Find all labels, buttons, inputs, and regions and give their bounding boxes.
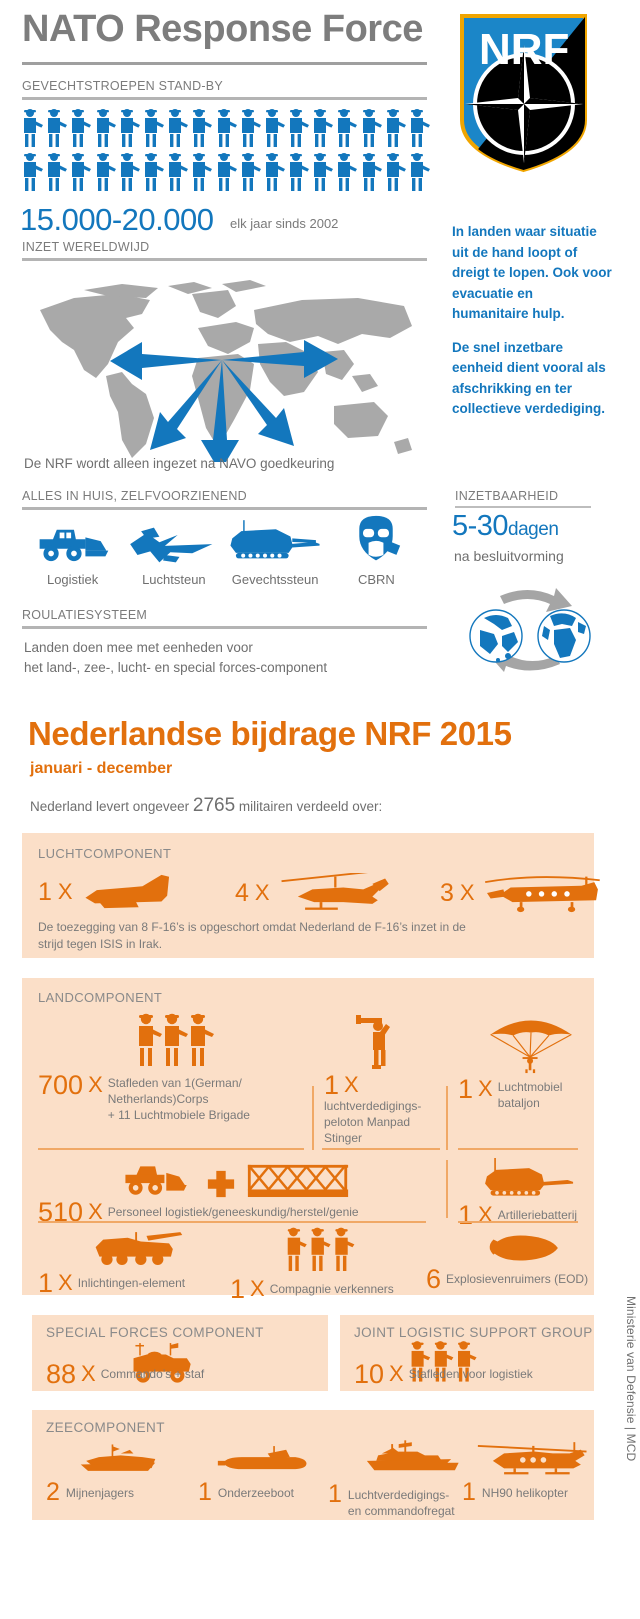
worldwide-caption: De NRF wordt alleen ingezet na NAVO goed…: [24, 456, 334, 471]
land-row3-item: 1 X Compagnie verkenners: [230, 1226, 394, 1303]
sea-item-label-line1: NH90 helikopter: [482, 1486, 568, 1500]
air-footnote-line1: De toezegging van 8 F-16’s is opgeschort…: [38, 919, 578, 936]
sea-item-label-line1: Onderzeeboot: [218, 1486, 294, 1500]
air-item-x: X: [255, 880, 270, 906]
sea-item-count: 1: [198, 1480, 212, 1505]
air-footnote-line2: strijd tegen ISIS in Irak.: [38, 936, 578, 953]
selfsufficient-section: ALLES IN HUIS, ZELFVOORZIENEND: [22, 489, 427, 510]
dutch-lead-suffix: militairen verdeeld over:: [239, 799, 382, 814]
soldier-icon: [93, 152, 117, 192]
land-item-label-line1: luchtverdedigings-: [324, 1099, 421, 1113]
jlsg-panel: JOINT LOGISTIC SUPPORT GROUP 10 X Stafle…: [340, 1315, 594, 1391]
publisher-credit: Ministerie van Defensie | MCD: [624, 1296, 638, 1461]
soldier-icon: [407, 152, 431, 192]
soldier-icon: [141, 152, 165, 192]
soldier-icon: [334, 108, 358, 148]
manpad-soldier-icon: [354, 1012, 442, 1070]
land-item-x: X: [250, 1276, 265, 1302]
air-item-count: 1: [38, 878, 52, 907]
special-forces-count: 88: [46, 1361, 76, 1388]
land-item-label: Personeel logistiek/geneeskundig/herstel…: [108, 1205, 359, 1221]
transport-plane-icon: [79, 873, 185, 911]
soldier-row: [20, 108, 432, 148]
land-row3-item: 6 Explosievenruimers (EOD): [426, 1230, 588, 1293]
deployability-note: na besluitvorming: [454, 548, 564, 564]
air-component-panel: LUCHTCOMPONENT 1 X 4 X: [22, 833, 594, 958]
jlsg-count: 10: [354, 1361, 384, 1388]
soldier-icon: [68, 108, 92, 148]
jlsg-label: Stafleden voor logistiek: [409, 1367, 533, 1383]
sea-component-item: 2 Mijnenjagers: [46, 1440, 168, 1505]
air-component-footnote: De toezegging van 8 F-16’s is opgeschort…: [38, 919, 578, 952]
land-component-panel: LANDCOMPONENT 700 X Stafleden van 1(Germ…: [22, 978, 594, 1295]
soldier-icon: [359, 108, 383, 148]
world-map-graphic: [22, 272, 422, 462]
land-component-header: LANDCOMPONENT: [38, 990, 162, 1005]
land-row3-item: 1 X Inlichtingen-element: [38, 1230, 186, 1297]
standby-section-label: GEVECHTSTROEPEN STAND-BY: [22, 79, 427, 93]
land-row2-item: 1 X Artilleriebatterij: [458, 1158, 588, 1229]
selfsufficient-section-label: ALLES IN HUIS, ZELFVOORZIENEND: [22, 489, 427, 503]
nrf-logo-text: NRF: [479, 25, 569, 74]
soldier-icon: [20, 108, 44, 148]
land-item-count: 1: [230, 1276, 245, 1303]
attack-helicopter-icon: [276, 873, 396, 913]
soldier-icon: [68, 152, 92, 192]
sea-component-item: 1 NH90 helikopter: [462, 1440, 594, 1505]
special-forces-header: SPECIAL FORCES COMPONENT: [46, 1325, 264, 1340]
land-item-count: 700: [38, 1072, 83, 1099]
page-title: NATO Response Force: [22, 8, 423, 51]
air-component-header: LUCHTCOMPONENT: [38, 846, 171, 861]
soldier-icon: [214, 152, 238, 192]
land-item-count: 1: [324, 1072, 339, 1099]
jlsg-x: X: [389, 1361, 404, 1387]
air-item-count: 4: [235, 879, 249, 908]
standby-number: 15.000-20.000: [20, 202, 213, 238]
standby-number-note: elk jaar sinds 2002: [230, 216, 338, 231]
land-row1-item: 1 X luchtverdedigings- peloton Manpad St…: [324, 1012, 442, 1146]
sea-item-label-line2: en commandofregat: [348, 1504, 455, 1518]
soldier-icon: [262, 152, 286, 192]
soldier-icon: [334, 152, 358, 192]
air-component-item: 1 X: [38, 873, 185, 911]
sea-component-header: ZEECOMPONENT: [46, 1420, 165, 1435]
air-item-count: 3: [440, 879, 454, 908]
air-component-item: 3 X: [440, 873, 613, 913]
soldier-icon: [117, 108, 141, 148]
wheel-loader-icon: [22, 514, 123, 566]
air-component-item: 4 X: [235, 873, 396, 913]
land-item-label: Inlichtingen-element: [78, 1276, 185, 1292]
section-divider: [455, 506, 591, 508]
three-soldiers-icon: [134, 1012, 304, 1070]
special-forces-panel: SPECIAL FORCES COMPONENT 88 X Commando’s…: [32, 1315, 328, 1391]
land-item-x: X: [344, 1072, 359, 1098]
three-soldiers-icon: [282, 1226, 394, 1276]
selfsufficient-item-label: Gevechtssteun: [225, 572, 326, 587]
land-item-label-line2: peloton Manpad: [324, 1115, 410, 1129]
soldier-pictogram-grid: [20, 108, 432, 196]
selfsufficient-item-gevechtssteun: Gevechtssteun: [225, 514, 326, 587]
chinook-helicopter-icon: [481, 873, 613, 913]
selfsufficient-icon-row: Logistiek Luchtsteun: [22, 514, 427, 587]
soldier-icon: [44, 152, 68, 192]
selfsufficient-item-logistiek: Logistiek: [22, 514, 123, 587]
section-divider: [22, 626, 427, 629]
land-row1-item: 1 X Luchtmobiel bataljon: [458, 1012, 588, 1112]
special-forces-label: Commando’s + staf: [101, 1367, 205, 1383]
section-divider: [22, 97, 427, 100]
section-divider: [22, 507, 427, 510]
right-note-paragraph-2: De snel inzetbare eenheid dient vooral a…: [452, 338, 612, 420]
sea-component-item: 1 Luchtverdedigings- en commandofregat: [328, 1440, 468, 1520]
panel-horizontal-divider: [38, 1148, 304, 1150]
dutch-title: Nederlandse bijdrage NRF 2015: [28, 715, 512, 753]
soldier-icon: [407, 108, 431, 148]
bomb-icon: [476, 1230, 588, 1266]
two-globes-rotation-icon: [450, 582, 610, 672]
deployability-section: INZETBAARHEID: [455, 489, 591, 508]
soldier-icon: [44, 108, 68, 148]
dutch-lead-number: 2765: [193, 795, 235, 816]
panel-vertical-divider: [446, 1160, 448, 1218]
selfsufficient-item-label: Logistiek: [22, 572, 123, 587]
soldier-icon: [383, 108, 407, 148]
soldier-icon: [359, 152, 383, 192]
selfsufficient-item-label: CBRN: [326, 572, 427, 587]
panel-vertical-divider: [312, 1086, 314, 1150]
nh90-helicopter-icon: [476, 1440, 594, 1478]
land-item-label: Stafleden van 1(German/ Netherlands)Corp…: [108, 1076, 250, 1123]
fighter-jet-icon: [123, 514, 224, 566]
infographic-page: NATO Response Force: [0, 0, 640, 1619]
soldier-icon: [262, 108, 286, 148]
worldwide-section: INZET WERELDWIJD: [22, 240, 427, 261]
air-item-x: X: [460, 880, 475, 906]
worldwide-section-label: INZET WERELDWIJD: [22, 240, 427, 254]
sea-item-count: 1: [462, 1480, 476, 1505]
soldier-icon: [383, 152, 407, 192]
land-item-label: luchtverdedigings- peloton Manpad Stinge…: [324, 1073, 442, 1146]
loader-cross-bridge-icon: [118, 1158, 426, 1199]
soldier-icon: [20, 152, 44, 192]
soldier-icon: [165, 152, 189, 192]
sea-item-label: NH90 helikopter: [482, 1486, 568, 1502]
soldier-icon: [165, 108, 189, 148]
deployability-value: 5-30: [452, 510, 508, 542]
land-item-count: 1: [458, 1202, 473, 1229]
soldier-icon: [189, 152, 213, 192]
soldier-icon: [310, 108, 334, 148]
sea-component-item: 1 Onderzeeboot: [198, 1440, 312, 1505]
land-item-x: X: [478, 1076, 493, 1102]
rotation-text-line1: Landen doen mee met eenheden voor: [24, 638, 327, 658]
dutch-subtitle: januari - december: [30, 760, 172, 778]
soldier-icon: [189, 108, 213, 148]
soldier-icon: [286, 108, 310, 148]
land-item-x: X: [478, 1202, 493, 1228]
land-row1-item: 700 X Stafleden van 1(German/ Netherland…: [38, 1012, 304, 1123]
soldier-icon: [238, 108, 262, 148]
sea-item-label: Luchtverdedigings- en commandofregat: [348, 1488, 455, 1520]
howitzer-tank-icon: [225, 514, 326, 566]
land-item-label-line2: Netherlands)Corps: [108, 1092, 209, 1106]
soldier-icon: [286, 152, 310, 192]
land-item-count: 1: [458, 1076, 473, 1103]
deployability-section-label: INZETBAARHEID: [455, 489, 591, 503]
jlsg-header: JOINT LOGISTIC SUPPORT GROUP: [354, 1325, 593, 1340]
land-item-label-line2: bataljon: [498, 1096, 540, 1110]
rotation-section: ROULATIESYSTEEM: [22, 608, 427, 629]
land-item-label: Luchtmobiel bataljon: [498, 1080, 563, 1112]
panel-horizontal-divider: [38, 1221, 426, 1223]
rotation-section-label: ROULATIESYSTEEM: [22, 608, 427, 622]
frigate-icon: [350, 1440, 468, 1480]
sea-item-count: 2: [46, 1480, 60, 1505]
dutch-lead-line: Nederland levert ongeveer 2765 militaire…: [30, 795, 382, 817]
land-item-x: X: [58, 1270, 73, 1296]
title-divider: [22, 62, 427, 65]
soldier-icon: [214, 108, 238, 148]
land-item-label-line3: + 11 Luchtmobiele Brigade: [108, 1108, 250, 1122]
sea-item-label: Mijnenjagers: [66, 1486, 134, 1502]
sea-component-panel: ZEECOMPONENT 2 Mijnenjagers: [32, 1410, 594, 1520]
panel-vertical-divider: [446, 1086, 448, 1150]
rotation-text: Landen doen mee met eenheden voor het la…: [24, 638, 327, 679]
selfsufficient-item-luchtsteun: Luchtsteun: [123, 514, 224, 587]
land-item-label: Explosievenruimers (EOD): [446, 1272, 588, 1288]
armored-recon-vehicle-icon: [90, 1230, 186, 1270]
parachute-icon: [484, 1012, 588, 1074]
land-item-label: Compagnie verkenners: [270, 1282, 394, 1298]
right-note-paragraph-1: In landen waar situatie uit de hand loop…: [452, 222, 612, 325]
panel-horizontal-divider: [322, 1148, 440, 1150]
deployability-value-row: 5-30dagen: [452, 510, 558, 543]
soldier-icon: [93, 108, 117, 148]
panel-horizontal-divider: [458, 1221, 578, 1223]
sea-item-label-line1: Mijnenjagers: [66, 1486, 134, 1500]
nrf-logo: NRF: [458, 12, 589, 174]
sea-item-count: 1: [328, 1482, 342, 1507]
sea-item-label-line1: Luchtverdedigings-: [348, 1488, 449, 1502]
air-item-x: X: [58, 879, 73, 905]
land-item-label-line1: Stafleden van 1(German/: [108, 1076, 242, 1090]
minehunter-ship-icon: [68, 1440, 168, 1478]
soldier-icon: [310, 152, 334, 192]
rotation-text-line2: het land-, zee-, lucht- en special force…: [24, 658, 327, 678]
land-item-label-line3: Stinger: [324, 1131, 362, 1145]
special-forces-x: X: [81, 1361, 96, 1387]
selfsufficient-item-label: Luchtsteun: [123, 572, 224, 587]
right-notes: In landen waar situatie uit de hand loop…: [452, 222, 612, 420]
land-item-count: 6: [426, 1266, 441, 1293]
soldier-row: [20, 152, 432, 192]
sea-item-label: Onderzeeboot: [218, 1486, 294, 1502]
gas-mask-icon: [326, 514, 427, 566]
land-item-label-line1: Luchtmobiel: [498, 1080, 563, 1094]
soldier-icon: [238, 152, 262, 192]
land-item-x: X: [88, 1072, 103, 1098]
land-item-count: 1: [38, 1270, 53, 1297]
section-divider: [22, 258, 427, 261]
submarine-icon: [216, 1440, 312, 1478]
soldier-icon: [117, 152, 141, 192]
deployability-unit: dagen: [508, 519, 558, 540]
land-row2-item: 510 X Personeel logistiek/geneeskundig/h…: [38, 1158, 426, 1226]
dutch-lead-prefix: Nederland levert ongeveer: [30, 799, 189, 814]
standby-section: GEVECHTSTROEPEN STAND-BY: [22, 79, 427, 100]
selfsufficient-item-cbrn: CBRN: [326, 514, 427, 587]
soldier-icon: [141, 108, 165, 148]
artillery-icon: [480, 1158, 588, 1202]
panel-horizontal-divider: [458, 1148, 578, 1150]
